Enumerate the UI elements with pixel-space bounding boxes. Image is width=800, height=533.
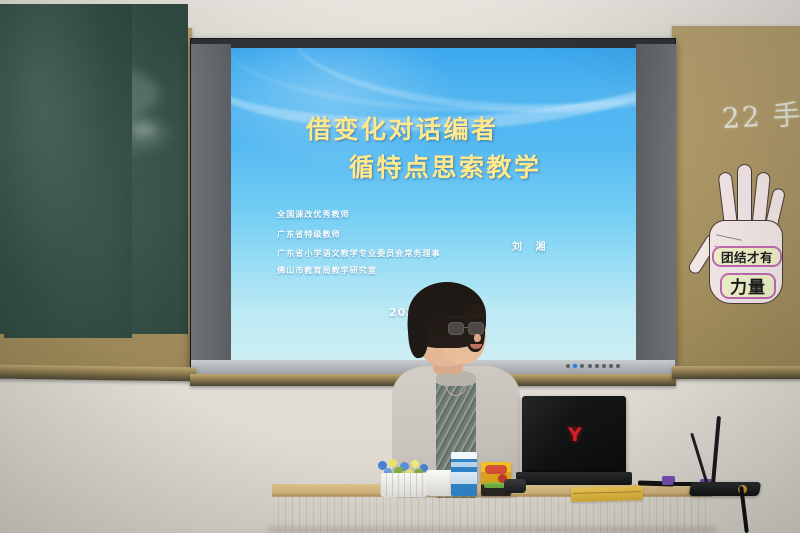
- classroom-lecture-photo: 22 手 团结才有 力量 借变化对话编者 循特点思索教学 全国课改优秀教师 广东…: [0, 0, 800, 533]
- slide-credential-1: 全国课改优秀教师: [277, 208, 350, 220]
- slide-credential-4: 佛山市教育局教学研究室: [277, 264, 377, 276]
- control-button[interactable]: [609, 364, 613, 368]
- tissue-box-label: [451, 472, 477, 483]
- chalk-text-right-board: 22 手: [721, 93, 800, 137]
- whiteboard-right-panel: [636, 44, 676, 366]
- tissue-box-stripe: [451, 462, 477, 467]
- presenter-nose: [474, 334, 481, 342]
- microphone-base: [689, 482, 761, 496]
- control-button[interactable]: [588, 364, 592, 368]
- flower-blossom: [389, 459, 397, 467]
- chalk-smudge: [130, 122, 156, 138]
- snack-box-graphic: [485, 465, 507, 474]
- whiteboard-control-buttons[interactable]: [566, 364, 620, 368]
- control-button[interactable]: [602, 364, 606, 368]
- control-button[interactable]: [580, 364, 584, 368]
- yellow-papers[interactable]: [571, 486, 643, 502]
- laptop[interactable]: Y: [516, 396, 632, 492]
- presenter-remote[interactable]: [504, 479, 526, 493]
- slide-title-line-1: 借变化对话编者: [306, 110, 499, 146]
- chalk-tray-right: [672, 366, 800, 379]
- whiteboard-left-panel: [191, 44, 231, 366]
- control-button[interactable]: [566, 364, 570, 368]
- glasses-lens-left: [448, 322, 464, 335]
- podium-body: [278, 496, 706, 533]
- glasses-icon: [448, 322, 488, 335]
- poster-label-bottom: 力量: [720, 273, 776, 299]
- slide-title-line-2: 循特点思索教学: [349, 148, 542, 184]
- control-button[interactable]: [595, 364, 599, 368]
- control-button-power[interactable]: [573, 364, 577, 368]
- laptop-base[interactable]: [516, 472, 632, 485]
- desk-microphone[interactable]: [690, 462, 768, 498]
- poster-label-top: 团结才有: [712, 246, 782, 267]
- chalk-piece[interactable]: [97, 376, 106, 379]
- palm-crease: [716, 234, 742, 240]
- legion-logo-icon: Y: [568, 426, 582, 444]
- flower-blossom: [411, 460, 419, 468]
- hand-shaped-poster: 团结才有 力量: [695, 158, 797, 306]
- flower-pot-vessel: [380, 473, 428, 497]
- slide-credential-2: 广东省特级教师: [277, 228, 341, 240]
- presenter-hair-left: [406, 305, 430, 358]
- control-button[interactable]: [616, 364, 620, 368]
- blackboard-right[interactable]: [4, 4, 132, 338]
- slide-credential-3: 广东省小学语文教学专业委员会常务理事: [277, 247, 441, 259]
- tissue-box[interactable]: [451, 452, 477, 496]
- slide-presenter-name: 刘 湘: [512, 238, 550, 253]
